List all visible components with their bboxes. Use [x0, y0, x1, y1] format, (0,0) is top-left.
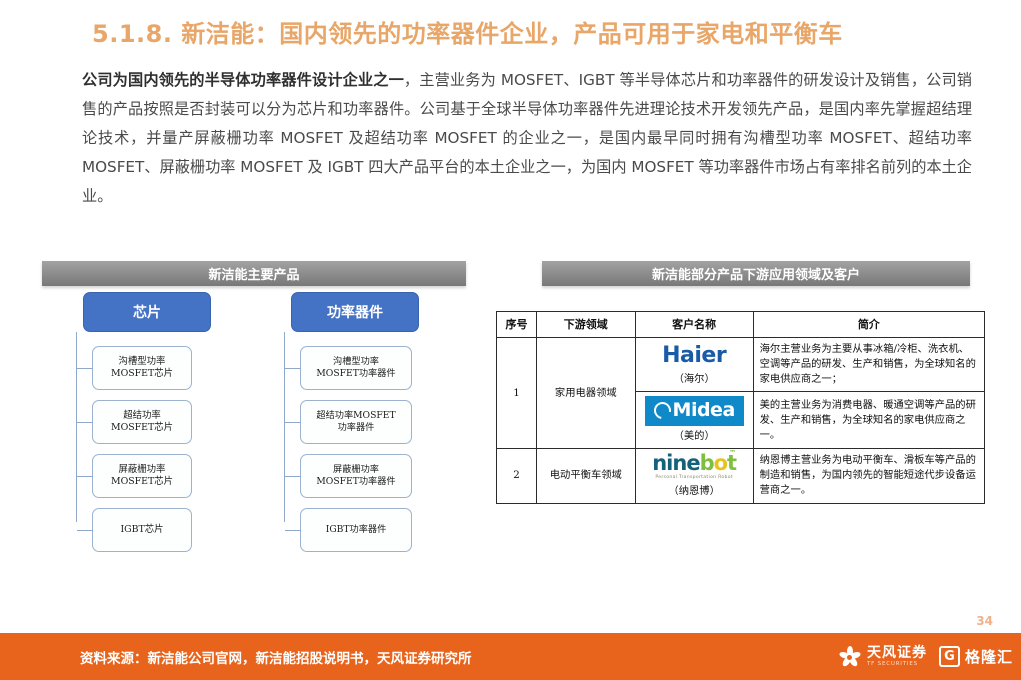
node-line-1: IGBT芯片: [120, 524, 163, 536]
diagram-node: 屏蔽栅功率 MOSFET芯片: [92, 454, 192, 498]
table-header-row: 序号 下游领域 客户名称 简介: [497, 312, 985, 338]
midea-logo: Midea: [645, 396, 744, 426]
node-line-2: MOSFET芯片: [111, 368, 173, 380]
diagram-children-chips: 沟槽型功率 MOSFET芯片 超结功率 MOSFET芯片 屏蔽栅功率 MOSFE…: [52, 346, 242, 552]
node-line-2: MOSFET功率器件: [316, 476, 395, 488]
column-header-no: 序号: [497, 312, 537, 338]
diagram-root-chips: 芯片: [83, 292, 211, 332]
diagram-node: IGBT芯片: [92, 508, 192, 552]
diagram-node: IGBT功率器件: [300, 508, 412, 552]
left-panel-banner: 新洁能主要产品: [42, 261, 466, 286]
node-line-1: 屏蔽栅功率: [333, 464, 379, 476]
diagram-node: 超结功率 MOSFET芯片: [92, 400, 192, 444]
right-panel-banner: 新洁能部分产品下游应用领域及客户: [542, 261, 970, 286]
flower-icon: [838, 645, 862, 669]
ninebot-tagline: Personal Transportation Robot: [652, 476, 736, 481]
body-rest: ，主营业务为 MOSFET、IGBT 等半导体芯片和功率器件的研发设计及销售，公…: [82, 71, 972, 205]
cell-field: 电动平衡车领域: [536, 449, 635, 504]
midea-logo-text: Midea: [673, 400, 735, 421]
cell-desc-haier: 海尔主营业务为主要从事冰箱/冷柜、洗衣机、空调等产品的研发、生产和销售，为全球知…: [753, 338, 984, 392]
ninebot-logo-block: ninebot™ Personal Transportation Robot （…: [642, 453, 747, 499]
table-row: 1 家用电器领域 Haier （海尔） 海尔主营业务为主要从事冰箱/冷柜、洗衣机…: [497, 338, 985, 392]
diagram-column-chips: 芯片 沟槽型功率 MOSFET芯片 超结功率 MOSFET芯片 屏蔽栅功率 MO…: [52, 292, 242, 562]
tf-text-block: 天风证券 TF SECURITIES: [867, 646, 927, 668]
diagram-column-power-devices: 功率器件 沟槽型功率 MOSFET功率器件 超结功率MOSFET 功率器件 屏蔽…: [260, 292, 450, 562]
table-row: 2 电动平衡车领域 ninebot™ Personal Transportati…: [497, 449, 985, 504]
diagram-node: 沟槽型功率 MOSFET功率器件: [300, 346, 412, 390]
source-note: 资料来源：新洁能公司官网，新洁能招股说明书，天风证券研究所: [80, 647, 472, 667]
page-title: 5.1.8. 新洁能：国内领先的功率器件企业，产品可用于家电和平衡车: [92, 14, 843, 49]
node-line-2: MOSFET功率器件: [316, 368, 395, 380]
column-header-desc: 简介: [753, 312, 984, 338]
node-line-2: MOSFET芯片: [111, 422, 173, 434]
downstream-application-table: 序号 下游领域 客户名称 简介 1 家用电器领域 Haier （海尔） 海尔主营…: [496, 311, 985, 504]
footer-bar: 资料来源：新洁能公司官网，新洁能招股说明书，天风证券研究所 天风证券 TF SE…: [0, 633, 1021, 680]
column-header-customer: 客户名称: [635, 312, 753, 338]
diagram-node: 沟槽型功率 MOSFET芯片: [92, 346, 192, 390]
node-line-1: 超结功率MOSFET: [316, 410, 395, 422]
body-paragraph: 公司为国内领先的半导体功率器件设计企业之一，主营业务为 MOSFET、IGBT …: [82, 66, 972, 211]
cell-no: 1: [497, 338, 537, 449]
node-line-1: 屏蔽栅功率: [119, 464, 166, 476]
node-line-1: 沟槽型功率: [119, 356, 166, 368]
tf-name-cn: 天风证券: [867, 646, 927, 660]
ninebot-logo-text: ninebot™: [652, 453, 736, 474]
haier-logo-block: Haier （海尔）: [642, 343, 747, 387]
column-header-field: 下游领域: [536, 312, 635, 338]
slide-page: 5.1.8. 新洁能：国内领先的功率器件企业，产品可用于家电和平衡车 公司为国内…: [0, 0, 1021, 680]
cell-customer-haier: Haier （海尔）: [635, 338, 753, 392]
midea-caption: （美的）: [674, 429, 715, 444]
node-line-1: IGBT功率器件: [326, 524, 387, 536]
diagram-node: 屏蔽栅功率 MOSFET功率器件: [300, 454, 412, 498]
haier-caption: （海尔）: [674, 372, 715, 387]
diagram-node: 超结功率MOSFET 功率器件: [300, 400, 412, 444]
footer-logos: 天风证券 TF SECURITIES G 格隆汇: [838, 633, 1013, 680]
cell-desc-ninebot: 纳恩博主营业务为电动平衡车、滑板车等产品的制造和销售，为国内领先的智能短途代步设…: [753, 449, 984, 504]
diagram-root-power-devices: 功率器件: [291, 292, 419, 332]
node-line-2: 功率器件: [338, 422, 375, 434]
gelonghui-logo: G 格隆汇: [939, 646, 1013, 667]
midea-logo-block: Midea （美的）: [642, 396, 747, 444]
gelonghui-name-cn: 格隆汇: [965, 646, 1013, 667]
ninebot-caption: （纳恩博）: [668, 484, 719, 499]
ninebot-logo: ninebot™ Personal Transportation Robot: [652, 453, 736, 481]
node-line-1: 超结功率: [123, 410, 161, 422]
page-number: 34: [976, 614, 993, 628]
cell-desc-midea: 美的主营业务为消费电器、暖通空调等产品的研发、生产和销售，为全球知名的家电供应商…: [753, 392, 984, 449]
tf-name-en: TF SECURITIES: [867, 662, 927, 668]
trademark-icon: ™: [729, 450, 735, 457]
node-line-2: MOSFET芯片: [111, 476, 173, 488]
haier-logo: Haier: [662, 343, 726, 369]
node-line-1: 沟槽型功率: [333, 356, 379, 368]
cell-customer-midea: Midea （美的）: [635, 392, 753, 449]
cell-no: 2: [497, 449, 537, 504]
body-lead: 公司为国内领先的半导体功率器件设计企业之一: [82, 71, 404, 89]
tf-securities-logo: 天风证券 TF SECURITIES: [838, 645, 927, 669]
g-square-icon: G: [939, 646, 960, 667]
midea-arc-icon: [650, 399, 674, 423]
diagram-children-power-devices: 沟槽型功率 MOSFET功率器件 超结功率MOSFET 功率器件 屏蔽栅功率 M…: [260, 346, 450, 552]
cell-field: 家用电器领域: [536, 338, 635, 449]
product-tree-diagram: 芯片 沟槽型功率 MOSFET芯片 超结功率 MOSFET芯片 屏蔽栅功率 MO…: [42, 292, 482, 592]
cell-customer-ninebot: ninebot™ Personal Transportation Robot （…: [635, 449, 753, 504]
